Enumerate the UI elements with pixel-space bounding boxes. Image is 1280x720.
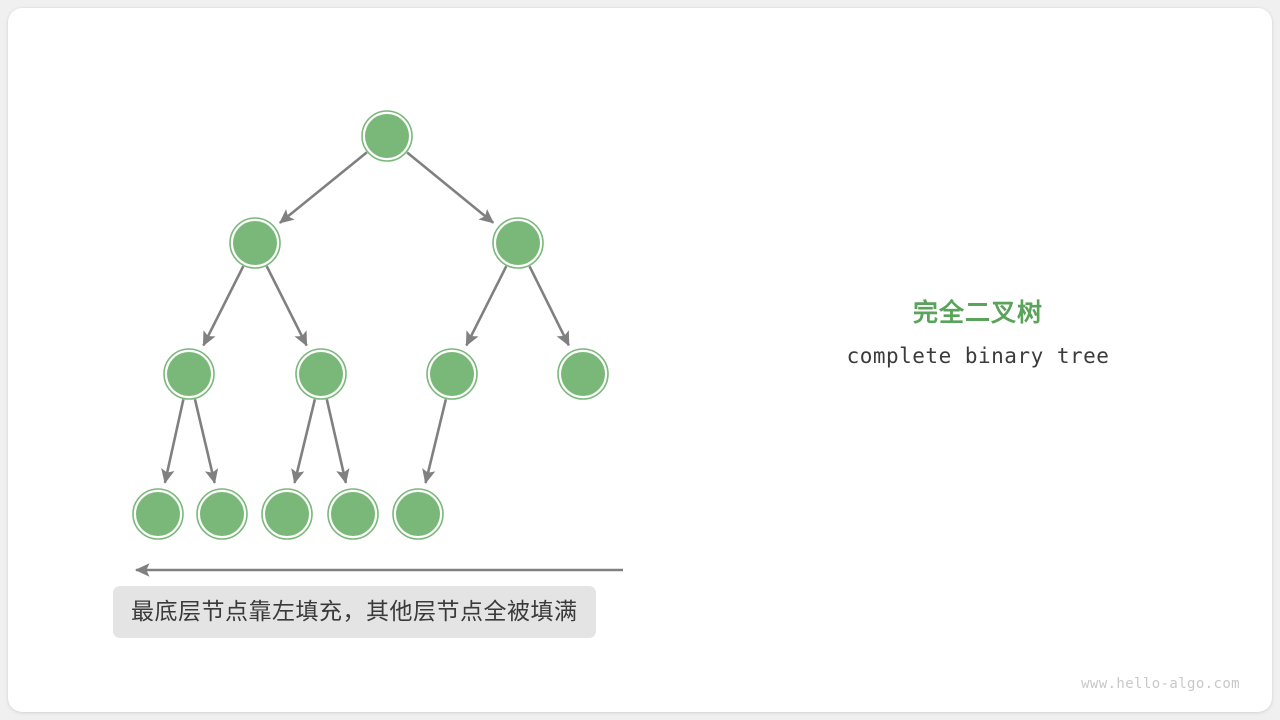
tree-node-fill [561, 352, 605, 396]
tree-node[interactable] [328, 489, 378, 539]
tree-node[interactable] [133, 489, 183, 539]
tree-node-fill [365, 114, 409, 158]
caption-label: 最底层节点靠左填充，其他层节点全被填满 [113, 586, 596, 638]
tree-node[interactable] [558, 349, 608, 399]
tree-edge [426, 399, 446, 483]
tree-edge [327, 399, 346, 482]
tree-node[interactable] [262, 489, 312, 539]
tree-edge [280, 152, 367, 222]
tree-edges [165, 152, 569, 483]
tree-node[interactable] [164, 349, 214, 399]
tree-node-fill [167, 352, 211, 396]
tree-node[interactable] [296, 349, 346, 399]
tree-node-fill [496, 221, 540, 265]
tree-edge [530, 266, 569, 345]
tree-node-fill [265, 492, 309, 536]
tree-node-fill [136, 492, 180, 536]
tree-edge [267, 266, 307, 345]
tree-node-fill [331, 492, 375, 536]
diagram-card: 完全二叉树 complete binary tree 最底层节点靠左填充，其他层… [8, 8, 1272, 712]
tree-node-fill [233, 221, 277, 265]
legend: 完全二叉树 complete binary tree [768, 296, 1188, 370]
tree-node-fill [430, 352, 474, 396]
tree-node-fill [396, 492, 440, 536]
legend-subtitle: complete binary tree [768, 342, 1188, 370]
tree-node[interactable] [427, 349, 477, 399]
screenshot-root: 完全二叉树 complete binary tree 最底层节点靠左填充，其他层… [0, 0, 1280, 720]
tree-edge [466, 266, 506, 345]
legend-title: 完全二叉树 [768, 296, 1188, 330]
tree-edge [203, 266, 243, 345]
tree-node-fill [299, 352, 343, 396]
tree-edge [195, 399, 215, 483]
tree-nodes [133, 111, 608, 539]
tree-node[interactable] [362, 111, 412, 161]
tree-node-fill [200, 492, 244, 536]
tree-node[interactable] [197, 489, 247, 539]
tree-node[interactable] [393, 489, 443, 539]
tree-edge [295, 399, 315, 483]
tree-node[interactable] [493, 218, 543, 268]
tree-node[interactable] [230, 218, 280, 268]
footer-url: www.hello-algo.com [1081, 676, 1240, 692]
tree-edge [165, 399, 183, 482]
tree-edge [407, 152, 493, 222]
